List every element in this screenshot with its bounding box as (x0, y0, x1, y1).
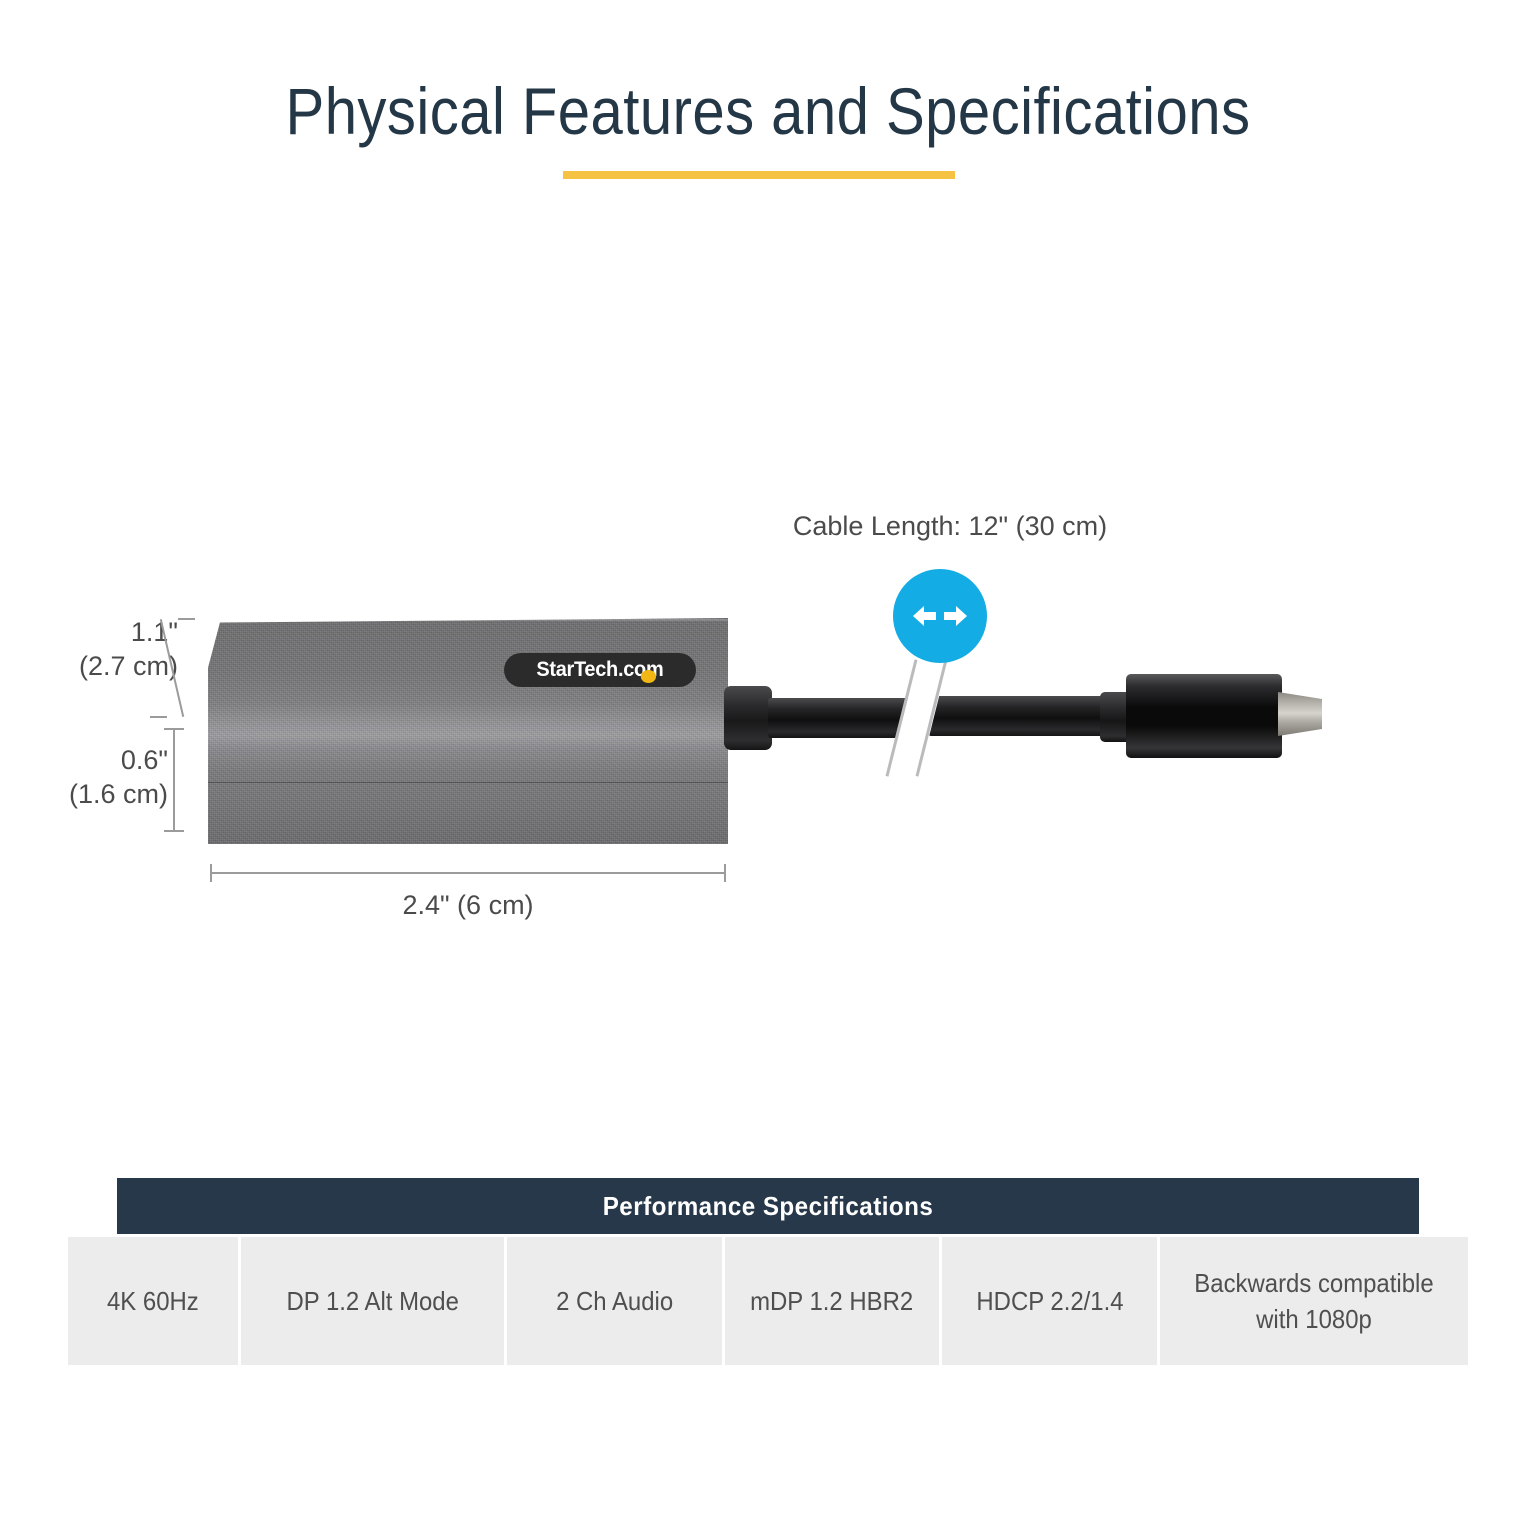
spec-cell: Backwards compatible with 1080p (1160, 1237, 1468, 1365)
spec-cell: HDCP 2.2/1.4 (942, 1237, 1157, 1365)
spec-cell-text: 2 Ch Audio (556, 1283, 673, 1319)
dimension-slant-line (160, 619, 184, 717)
spec-cell-text: 4K 60Hz (107, 1283, 199, 1319)
dimension-height-top-line (150, 618, 194, 718)
spec-cell-text: HDCP 2.2/1.4 (976, 1283, 1123, 1319)
product-figure: StarTech.com 1.1" (2.7 cm) 0.6" (1.6 cm) (0, 470, 1536, 940)
cable-break-indicator (878, 658, 968, 778)
cable-strain-relief-boot-left (724, 686, 772, 750)
title-underline-rule (563, 171, 955, 179)
dimension-tick-top (178, 618, 195, 620)
dimension-tick-bottom (164, 830, 184, 832)
dimension-width-label: 2.4" (6 cm) (210, 888, 726, 922)
dimension-vertical-line (173, 728, 175, 832)
adapter-body: StarTech.com (208, 618, 728, 844)
startech-logo-word: StarTech (536, 658, 618, 681)
dimension-tick-bottom (150, 716, 167, 718)
connector-metal-plug (1278, 692, 1322, 736)
cable-length-badge (893, 569, 987, 663)
dimension-height-bottom-inches: 0.6" (0, 743, 168, 777)
adapter-top-edge (220, 619, 728, 621)
spec-table-header: Performance Specifications (117, 1178, 1419, 1234)
spec-cell-text: mDP 1.2 HBR2 (751, 1283, 914, 1319)
spec-cell: 4K 60Hz (68, 1237, 238, 1365)
spec-cell-text: DP 1.2 Alt Mode (286, 1283, 458, 1319)
dimension-height-bottom-line (164, 728, 184, 832)
startech-logo-text: StarTech.com (536, 658, 663, 682)
spec-cell: DP 1.2 Alt Mode (241, 1237, 504, 1365)
connector-housing (1126, 674, 1282, 758)
dimension-horizontal-line (210, 872, 726, 874)
page-title: Physical Features and Specifications (92, 72, 1444, 150)
spec-cell-text: Backwards compatible with 1080p (1182, 1265, 1447, 1337)
dimension-height-bottom-label: 0.6" (1.6 cm) (0, 743, 168, 811)
dimension-tick-right (724, 864, 726, 882)
spec-cell: 2 Ch Audio (507, 1237, 722, 1365)
startech-logo-dot-icon (641, 670, 656, 683)
spec-cell: mDP 1.2 HBR2 (725, 1237, 940, 1365)
dimension-width-line (210, 862, 726, 884)
double-arrow-horizontal-icon (911, 601, 969, 631)
cable-length-label: Cable Length: 12" (30 cm) (700, 509, 1200, 543)
dimension-height-bottom-metric: (1.6 cm) (0, 777, 168, 811)
adapter-seam-line (208, 782, 728, 783)
adapter-body-texture (208, 618, 728, 844)
startech-logo-badge: StarTech.com (504, 653, 696, 687)
performance-specifications-table: Performance Specifications 4K 60Hz DP 1.… (68, 1178, 1468, 1365)
spec-table-row: 4K 60Hz DP 1.2 Alt Mode 2 Ch Audio mDP 1… (68, 1237, 1468, 1365)
